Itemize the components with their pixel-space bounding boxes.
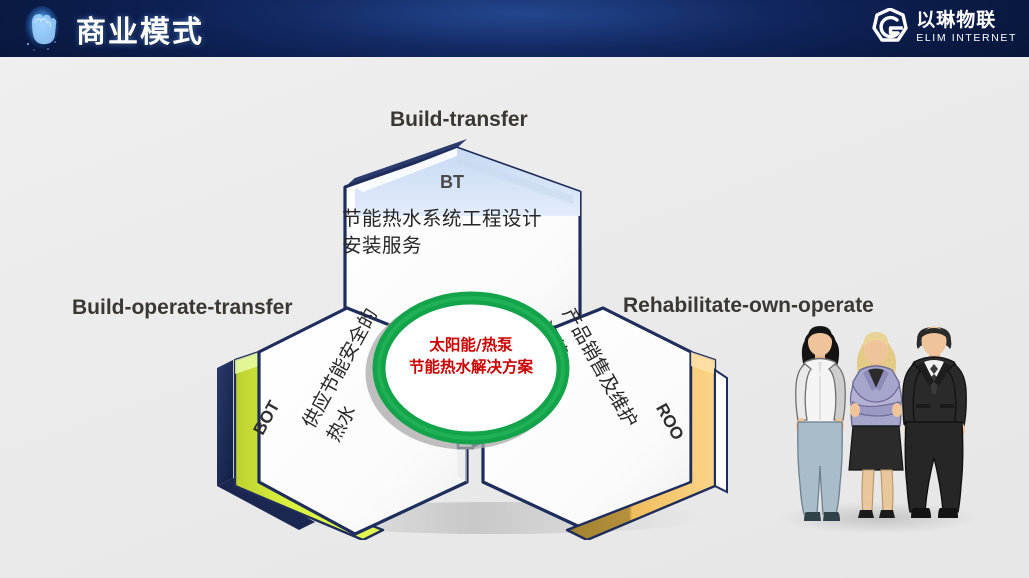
brand-lockup: 以琳物联 ELIM INTERNET xyxy=(872,8,1017,46)
center-line-1: 太阳能/热泵 xyxy=(395,334,547,356)
figure-woman-white-shirt xyxy=(796,326,846,521)
brand-name-cn: 以琳物联 xyxy=(916,11,1017,30)
slide-canvas: 商业模式 以琳物联 ELIM INTERNET Build-transfer B… xyxy=(0,0,1029,578)
figure-woman-lavender-blazer xyxy=(849,332,903,518)
page-title: 商业模式 xyxy=(76,7,204,51)
figure-man-dark-suit xyxy=(903,327,967,519)
hexagon-bt-tag: BT xyxy=(440,172,464,193)
brand-name-en: ELIM INTERNET xyxy=(916,33,1017,44)
center-line-2: 节能热水解决方案 xyxy=(395,356,547,378)
slide-header: 商业模式 以琳物联 ELIM INTERNET xyxy=(0,0,1029,57)
hexagon-bt-text: 节能热水系统工程设计 安装服务 xyxy=(342,206,572,260)
business-team-illustration xyxy=(760,300,1000,540)
brand-text: 以琳物联 ELIM INTERNET xyxy=(916,11,1017,44)
center-solution-text: 太阳能/热泵 节能热水解决方案 xyxy=(395,334,547,379)
elim-g-logo-icon xyxy=(872,8,908,46)
fist-icon xyxy=(14,1,70,57)
caption-build-transfer: Build-transfer xyxy=(390,108,528,132)
header-glow xyxy=(150,0,910,57)
